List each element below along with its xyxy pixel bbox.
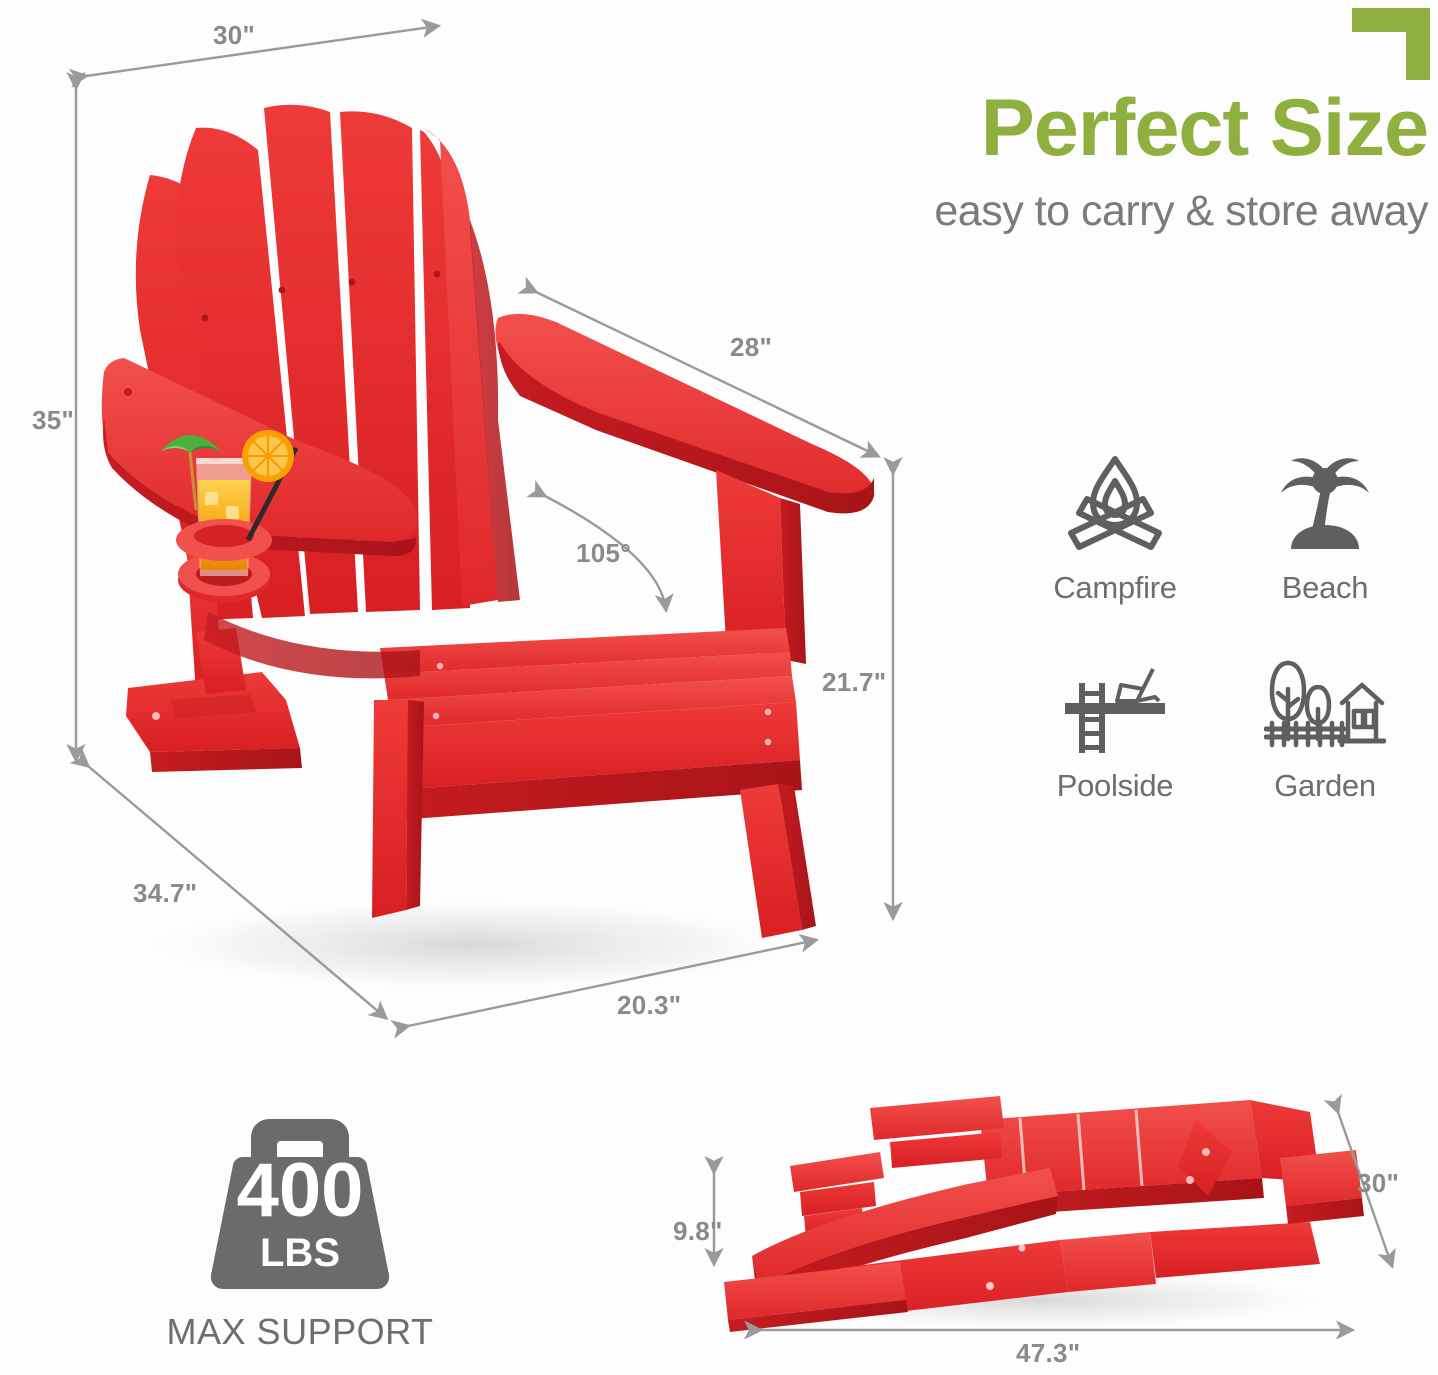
garden-icon	[1220, 646, 1430, 764]
dim-label-folded-width: 47.3"	[1016, 1338, 1080, 1369]
weight-number: 400	[197, 1153, 403, 1229]
max-support-badge: 400 LBS MAX SUPPORT	[140, 1113, 460, 1353]
dim-label-height-total: 35"	[32, 405, 74, 436]
dim-label-width-top: 30"	[213, 20, 255, 51]
dim-label-seat-height: 21.7"	[822, 667, 886, 698]
dim-label-back-angle: 105°	[576, 538, 631, 569]
max-support-caption: MAX SUPPORT	[140, 1311, 460, 1353]
scenario-beach: Beach	[1220, 448, 1430, 606]
scenario-label: Garden	[1220, 768, 1430, 804]
palm-tree-icon	[1220, 448, 1430, 566]
scenario-label: Beach	[1220, 570, 1430, 606]
dim-label-base-depth: 20.3"	[617, 990, 681, 1021]
chair-seat-slats	[380, 628, 802, 820]
scenario-poolside: Poolside	[1010, 646, 1220, 804]
orange-slice	[242, 430, 294, 482]
dim-label-diagonal: 34.7"	[133, 878, 197, 909]
scenario-label: Campfire	[1010, 570, 1220, 606]
weight-unit: LBS	[197, 1233, 403, 1273]
scenario-row-2: Poolside	[1010, 646, 1430, 804]
scenario-row-1: Campfire Beach	[1010, 448, 1430, 606]
scenario-label: Poolside	[1010, 768, 1220, 804]
weight-icon: 400 LBS	[197, 1113, 403, 1299]
campfire-icon	[1010, 448, 1220, 566]
dim-label-arm-length: 28"	[730, 332, 772, 363]
infographic-canvas: Perfect Size easy to carry & store away	[0, 0, 1438, 1375]
dim-label-folded-depth: 30"	[1357, 1168, 1399, 1199]
front-left-leg	[372, 700, 408, 918]
scenario-garden: Garden	[1220, 646, 1430, 804]
chair-right-arm	[495, 314, 874, 513]
chair-shadow	[130, 897, 810, 993]
poolside-icon	[1010, 646, 1220, 764]
dim-label-folded-height: 9.8"	[673, 1216, 723, 1247]
arrow-width-top	[86, 26, 438, 76]
front-left-leg-side	[406, 700, 424, 910]
scenario-campfire: Campfire	[1010, 448, 1220, 606]
usage-scenarios: Campfire Beach	[1010, 448, 1430, 804]
